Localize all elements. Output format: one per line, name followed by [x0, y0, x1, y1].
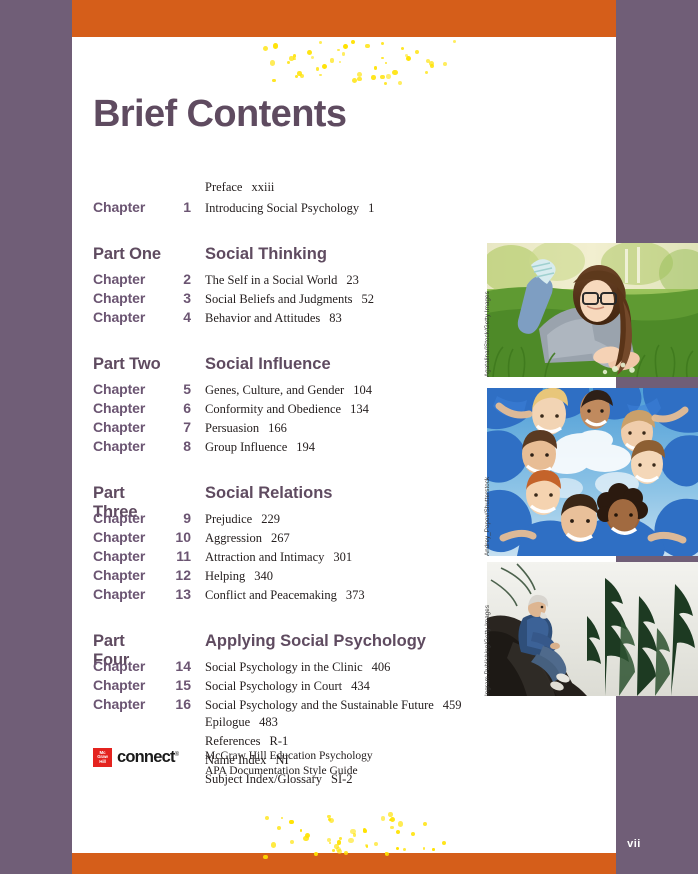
chapter-entry-page: 434: [342, 679, 370, 693]
chapter-row[interactable]: Chapter2The Self in a Social World23: [93, 271, 473, 290]
chapter-number: 14: [161, 658, 205, 674]
chapter-label: Chapter: [93, 548, 161, 564]
chapter-label: Chapter: [93, 400, 161, 416]
chapter-number: 6: [161, 400, 205, 416]
chapter-entry-title: Epilogue: [205, 715, 250, 729]
chapter-row[interactable]: Chapter12Helping340: [93, 567, 473, 586]
connect-wordmark-text: connect: [117, 748, 175, 766]
chapter-entry-title: Social Beliefs and Judgments: [205, 292, 353, 306]
chapter-entry-title: Genes, Culture, and Gender: [205, 383, 344, 397]
part-title: Social Thinking: [205, 245, 473, 264]
chapter-row[interactable]: Chapter8Group Influence194: [93, 438, 473, 457]
page-number: vii: [614, 838, 654, 850]
part-label: Part Two: [93, 355, 161, 374]
photo-credit-2: Andrey_Popov/Shutterstock: [484, 436, 494, 556]
chapter-entry: Prefacexxiii: [205, 180, 473, 195]
part-block: Part ThreeSocial RelationsChapter9Prejud…: [93, 484, 473, 605]
chapter-entry-title: Conformity and Obedience: [205, 402, 341, 416]
front-matter-block: PrefacexxiiiChapter1Introducing Social P…: [93, 180, 473, 218]
photo-group-huddle-from-below: [487, 388, 698, 556]
chapter-entry-title: Persuasion: [205, 421, 259, 435]
section-spacer: [93, 218, 473, 245]
chapter-label: Chapter: [93, 419, 161, 435]
top-orange-band: [72, 0, 616, 37]
chapter-entry: Conformity and Obedience134: [205, 402, 473, 417]
part-heading-row[interactable]: Part OneSocial Thinking: [93, 245, 473, 269]
chapter-row[interactable]: Chapter15Social Psychology in Court434: [93, 677, 473, 696]
chapter-number: 13: [161, 586, 205, 602]
connect-line-1: McGraw Hill Education Psychology: [205, 749, 373, 764]
chapter-entry: Social Psychology and the Sustainable Fu…: [205, 698, 473, 713]
chapter-entry-page: 194: [287, 440, 315, 454]
chapter-entry: Social Psychology in the Clinic406: [205, 660, 473, 675]
page-frame: Brief Contents PrefacexxiiiChapter1Intro…: [0, 0, 698, 893]
chapter-label: Chapter: [93, 381, 161, 397]
chapter-entry: Persuasion166: [205, 421, 473, 436]
chapter-label: Chapter: [93, 510, 161, 526]
chapter-entry-title: Preface: [205, 180, 242, 194]
part-title: Social Influence: [205, 355, 473, 374]
connect-line-2: APA Documentation Style Guide: [205, 764, 373, 779]
chapter-row[interactable]: Chapter3Social Beliefs and Judgments52: [93, 290, 473, 309]
chapter-row[interactable]: Chapter16Social Psychology and the Susta…: [93, 696, 473, 715]
chapter-label: Chapter: [93, 199, 161, 215]
brief-contents-list: PrefacexxiiiChapter1Introducing Social P…: [93, 180, 473, 791]
chapter-entry-page: 52: [353, 292, 375, 306]
part-title: Applying Social Psychology: [205, 632, 473, 651]
left-purple-border: [0, 0, 72, 874]
photo-credit-3: Ingram Publishing/Getty Images: [484, 576, 494, 696]
chapter-entry-title: Social Psychology and the Sustainable Fu…: [205, 698, 434, 712]
chapter-number: 1: [161, 199, 205, 215]
chapter-entry-page: 104: [344, 383, 372, 397]
chapter-label: Chapter: [93, 586, 161, 602]
chapter-label: Chapter: [93, 290, 161, 306]
matter-row[interactable]: Epilogue483: [93, 715, 473, 734]
chapter-entry-title: Conflict and Peacemaking: [205, 588, 337, 602]
part-heading-row[interactable]: Part ThreeSocial Relations: [93, 484, 473, 508]
connect-resources-block: Mc Graw Hill connect® McGraw Hill Educat…: [93, 748, 373, 779]
bottom-white-margin: [0, 874, 698, 893]
mcgraw-hill-mark-icon: Mc Graw Hill: [93, 748, 112, 767]
mcgraw-hill-connect-logo: Mc Graw Hill connect®: [93, 748, 205, 767]
chapter-number: 5: [161, 381, 205, 397]
chapter-label: Chapter: [93, 529, 161, 545]
chapter-entry: Aggression267: [205, 531, 473, 546]
chapter-entry-page: 459: [434, 698, 462, 712]
chapter-entry-page: 340: [245, 569, 273, 583]
part-label: Part One: [93, 245, 161, 264]
chapter-row[interactable]: Chapter6Conformity and Obedience134: [93, 400, 473, 419]
chapter-entry: Behavior and Attitudes83: [205, 311, 473, 326]
chapter-row[interactable]: Chapter5Genes, Culture, and Gender104: [93, 381, 473, 400]
chapter-label: Chapter: [93, 271, 161, 287]
chapter-label: Chapter: [93, 658, 161, 674]
chapter-entry: Genes, Culture, and Gender104: [205, 383, 473, 398]
chapter-entry-title: The Self in a Social World: [205, 273, 337, 287]
matter-row[interactable]: Prefacexxiii: [93, 180, 473, 199]
chapter-entry: Conflict and Peacemaking373: [205, 588, 473, 603]
chapter-entry: Helping340: [205, 569, 473, 584]
part-block: Part FourApplying Social PsychologyChapt…: [93, 632, 473, 715]
chapter-number: 10: [161, 529, 205, 545]
chapter-number: 2: [161, 271, 205, 287]
chapter-number: 11: [161, 548, 205, 564]
chapter-entry-page: 134: [341, 402, 369, 416]
chapter-entry-page: 23: [337, 273, 359, 287]
chapter-number: 3: [161, 290, 205, 306]
part-block: Part OneSocial ThinkingChapter2The Self …: [93, 245, 473, 328]
chapter-entry: Introducing Social Psychology1: [205, 201, 473, 216]
part-heading-row[interactable]: Part FourApplying Social Psychology: [93, 632, 473, 656]
chapter-label: Chapter: [93, 567, 161, 583]
chapter-number: 12: [161, 567, 205, 583]
chapter-entry: Epilogue483: [205, 715, 473, 730]
chapter-label: Chapter: [93, 696, 161, 712]
chapter-entry: Social Psychology in Court434: [205, 679, 473, 694]
chapter-entry: Prejudice229: [205, 512, 473, 527]
chapter-entry: Group Influence194: [205, 440, 473, 455]
chapter-entry-title: Social Psychology in the Clinic: [205, 660, 363, 674]
chapter-row[interactable]: Chapter9Prejudice229: [93, 510, 473, 529]
mh-mark-line-3: Hill: [99, 760, 105, 764]
chapter-row[interactable]: Chapter4Behavior and Attitudes83: [93, 309, 473, 328]
chapter-entry-page: 1: [359, 201, 374, 215]
chapter-row[interactable]: Chapter7Persuasion166: [93, 419, 473, 438]
photo-man-sitting-on-rock: [487, 562, 698, 696]
chapter-entry-title: Behavior and Attitudes: [205, 311, 320, 325]
chapter-entry-page: 83: [320, 311, 342, 325]
chapter-entry-page: 166: [259, 421, 287, 435]
photo-credit-1: Agatalina/iStock/Getty Images: [484, 257, 494, 377]
part-heading-row[interactable]: Part TwoSocial Influence: [93, 355, 473, 379]
chapter-entry-title: References: [205, 734, 261, 748]
chapter-number: 4: [161, 309, 205, 325]
chapter-entry-title: Attraction and Intimacy: [205, 550, 324, 564]
chapter-number: 8: [161, 438, 205, 454]
chapter-number: 16: [161, 696, 205, 712]
chapter-entry-page: 406: [363, 660, 391, 674]
chapter-row[interactable]: Chapter10Aggression267: [93, 529, 473, 548]
chapter-entry-title: Group Influence: [205, 440, 287, 454]
chapter-entry: Social Beliefs and Judgments52: [205, 292, 473, 307]
chapter-entry-page: xxiii: [242, 180, 274, 194]
chapter-entry: ReferencesR-1: [205, 734, 473, 749]
chapter-number: 15: [161, 677, 205, 693]
connect-resource-lines: McGraw Hill Education Psychology APA Doc…: [205, 748, 373, 779]
part-title: Social Relations: [205, 484, 473, 503]
chapter-label: Chapter: [93, 438, 161, 454]
chapter-row[interactable]: Chapter14Social Psychology in the Clinic…: [93, 658, 473, 677]
section-spacer: [93, 457, 473, 484]
chapter-label: Chapter: [93, 309, 161, 325]
chapter-entry: The Self in a Social World23: [205, 273, 473, 288]
page-title: Brief Contents: [93, 93, 346, 136]
chapter-row[interactable]: Chapter11Attraction and Intimacy301: [93, 548, 473, 567]
part-block: Part TwoSocial InfluenceChapter5Genes, C…: [93, 355, 473, 457]
chapter-number: 7: [161, 419, 205, 435]
chapter-entry-page: 301: [324, 550, 352, 564]
registered-trademark-icon: ®: [175, 752, 179, 758]
photo-young-woman-lying-in-grass: [487, 243, 698, 377]
chapter-entry-page: 229: [252, 512, 280, 526]
bottom-orange-band: [72, 853, 616, 874]
chapter-entry: Attraction and Intimacy301: [205, 550, 473, 565]
chapter-entry-page: R-1: [261, 734, 289, 748]
chapter-row[interactable]: Chapter13Conflict and Peacemaking373: [93, 586, 473, 605]
chapter-entry-title: Aggression: [205, 531, 262, 545]
connect-wordmark: connect®: [117, 748, 178, 767]
chapter-row[interactable]: Chapter1Introducing Social Psychology1: [93, 199, 473, 218]
chapter-label: Chapter: [93, 677, 161, 693]
section-spacer: [93, 605, 473, 632]
section-spacer: [93, 328, 473, 355]
chapter-entry-title: Introducing Social Psychology: [205, 201, 359, 215]
chapter-entry-title: Social Psychology in Court: [205, 679, 342, 693]
chapter-number: 9: [161, 510, 205, 526]
chapter-entry-title: Helping: [205, 569, 245, 583]
chapter-entry-page: 483: [250, 715, 278, 729]
chapter-entry-title: Prejudice: [205, 512, 252, 526]
chapter-entry-page: 373: [337, 588, 365, 602]
chapter-entry-page: 267: [262, 531, 290, 545]
